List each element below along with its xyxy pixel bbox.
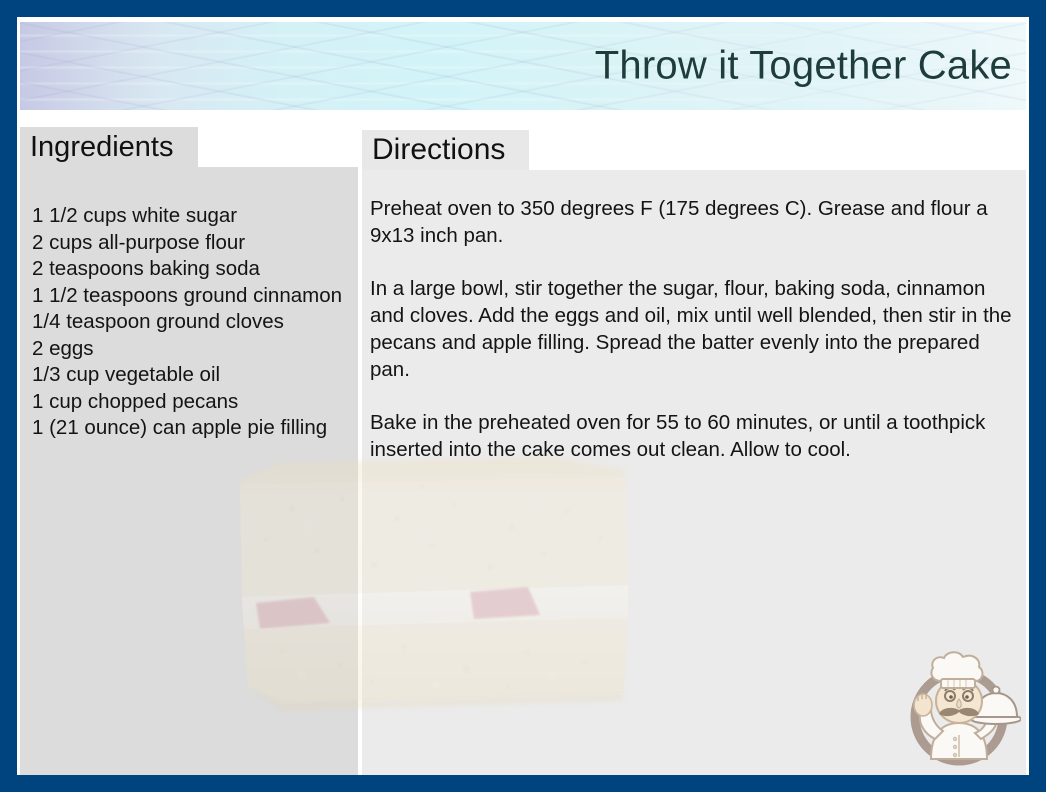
page-title: Throw it Together Cake bbox=[595, 44, 1012, 89]
ingredient-item: 1 (21 ounce) can apple pie filling bbox=[32, 415, 350, 442]
directions-tab: Directions bbox=[362, 130, 529, 170]
ingredients-panel: Ingredients 1 1/2 cups white sugar 2 cup… bbox=[20, 127, 358, 775]
ingredient-item: 1 cup chopped pecans bbox=[32, 389, 350, 416]
ingredient-item: 2 teaspoons baking soda bbox=[32, 256, 350, 283]
recipe-page: Throw it Together Cake Ingredients 1 1/2… bbox=[17, 17, 1029, 775]
directions-body: Preheat oven to 350 degrees F (175 degre… bbox=[362, 170, 1026, 775]
direction-step: In a large bowl, stir together the sugar… bbox=[370, 275, 1018, 383]
ingredients-tab: Ingredients bbox=[20, 127, 198, 167]
ingredient-item: 1/3 cup vegetable oil bbox=[32, 362, 350, 389]
direction-step: Preheat oven to 350 degrees F (175 degre… bbox=[370, 195, 1018, 249]
direction-step: Bake in the preheated oven for 55 to 60 … bbox=[370, 409, 1018, 463]
directions-panel: Directions Preheat oven to 350 degrees F… bbox=[362, 130, 1026, 775]
header-banner: Throw it Together Cake bbox=[20, 22, 1026, 110]
ingredient-item: 2 cups all-purpose flour bbox=[32, 230, 350, 257]
ingredient-item: 1 1/2 cups white sugar bbox=[32, 203, 350, 230]
directions-heading: Directions bbox=[372, 135, 505, 165]
ingredients-heading: Ingredients bbox=[30, 133, 174, 162]
ingredient-item: 2 eggs bbox=[32, 336, 350, 363]
recipe-card: Throw it Together Cake Ingredients 1 1/2… bbox=[0, 0, 1046, 792]
ingredient-item: 1 1/2 teaspoons ground cinnamon bbox=[32, 283, 350, 310]
ingredients-body: 1 1/2 cups white sugar 2 cups all-purpos… bbox=[20, 167, 358, 775]
ingredients-list: 1 1/2 cups white sugar 2 cups all-purpos… bbox=[32, 203, 350, 442]
ingredient-item: 1/4 teaspoon ground cloves bbox=[32, 309, 350, 336]
